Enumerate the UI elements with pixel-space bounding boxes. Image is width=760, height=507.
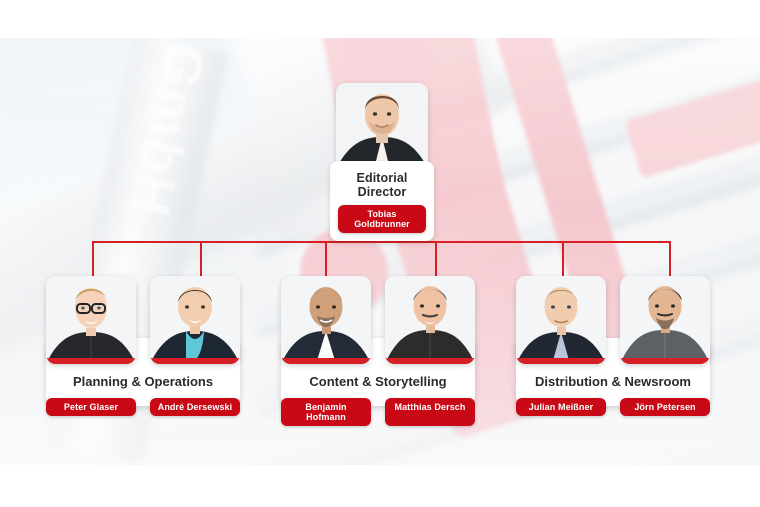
director-name-badge[interactable]: Tobias Goldbrunner xyxy=(338,205,426,233)
avatar xyxy=(516,276,606,364)
avatar xyxy=(620,276,710,364)
connector-horizontal-bus xyxy=(92,241,670,243)
member-name-badge[interactable]: Peter Glaser xyxy=(46,398,136,416)
connector-drop xyxy=(435,241,437,276)
portrait-editorial-director xyxy=(336,83,428,169)
accent-underline xyxy=(150,358,240,364)
avatar xyxy=(385,276,475,364)
avatar xyxy=(336,83,428,169)
accent-underline xyxy=(516,358,606,364)
member-name-badge[interactable]: Benjamin Hofmann xyxy=(281,398,371,426)
member-name-badge[interactable]: Jörn Petersen xyxy=(620,398,710,416)
connector-drop xyxy=(92,241,94,276)
node-editorial-director[interactable]: Editorial Director Tobias Goldbrunner xyxy=(330,83,434,241)
group-planning-operations[interactable]: Planning & Operations Peter Glaser André… xyxy=(46,276,240,364)
group-distribution-newsroom[interactable]: Distribution & Newsroom Julian Meißner J… xyxy=(516,276,710,364)
group-name-badges: Benjamin Hofmann Matthias Dersch xyxy=(281,398,475,426)
accent-underline xyxy=(385,358,475,364)
connector-drop xyxy=(562,241,564,276)
connector-drop xyxy=(200,241,202,276)
portrait-joern-petersen xyxy=(620,276,710,364)
portrait-peter-glaser xyxy=(46,276,136,364)
portrait-benjamin-hofmann xyxy=(281,276,371,364)
portrait-julian-meissner xyxy=(516,276,606,364)
avatar xyxy=(150,276,240,364)
group-avatars xyxy=(46,276,240,364)
member-name-badge[interactable]: Matthias Dersch xyxy=(385,398,475,426)
connector-drop xyxy=(669,241,671,276)
group-avatars xyxy=(281,276,475,364)
group-avatars xyxy=(516,276,710,364)
group-title: Distribution & Newsroom xyxy=(516,374,710,389)
group-title: Planning & Operations xyxy=(46,374,240,389)
member-name-badge[interactable]: André Dersewski xyxy=(150,398,240,416)
avatar xyxy=(46,276,136,364)
group-name-badges: Peter Glaser André Dersewski xyxy=(46,398,240,416)
group-name-badges: Julian Meißner Jörn Petersen xyxy=(516,398,710,416)
portrait-andre-dersewski xyxy=(150,276,240,364)
group-title: Content & Storytelling xyxy=(281,374,475,389)
accent-underline xyxy=(620,358,710,364)
accent-underline xyxy=(46,358,136,364)
director-title: Editorial Director xyxy=(336,171,428,199)
director-title-card: Editorial Director Tobias Goldbrunner xyxy=(330,161,434,241)
member-name-badge[interactable]: Julian Meißner xyxy=(516,398,606,416)
connector-drop xyxy=(325,241,327,276)
accent-underline xyxy=(281,358,371,364)
portrait-matthias-dersch xyxy=(385,276,475,364)
org-chart-canvas: GmbH xyxy=(0,0,760,507)
group-content-storytelling[interactable]: Content & Storytelling Benjamin Hofmann … xyxy=(281,276,475,364)
avatar xyxy=(281,276,371,364)
